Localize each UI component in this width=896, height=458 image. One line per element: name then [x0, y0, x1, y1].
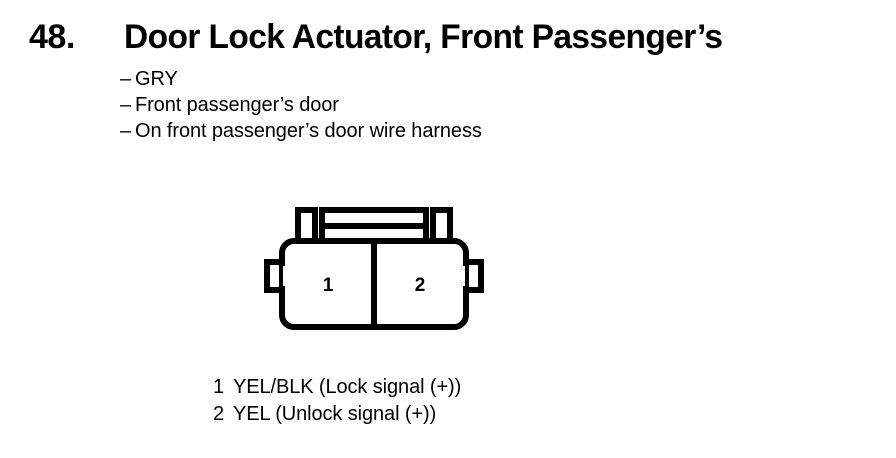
page-title: Door Lock Actuator, Front Passenger’s: [124, 16, 722, 58]
pin-legend-row: 1 YEL/BLK (Lock signal (+)): [213, 374, 713, 401]
pin-legend-number: 2: [213, 401, 233, 428]
connector-notch-seam-mask-left: [283, 266, 289, 286]
page-heading: 48. Door Lock Actuator, Front Passenger’…: [0, 16, 896, 60]
pin-legend-description: YEL/BLK (Lock signal (+)): [233, 374, 461, 401]
list-item: – Front passenger’s door: [120, 92, 820, 118]
connector-cavity-label-1: 1: [323, 275, 334, 296]
dash-bullet-icon: –: [120, 118, 135, 144]
connector-latch-tab-right: [433, 210, 450, 242]
list-item-label: Front passenger’s door: [135, 92, 339, 118]
dash-bullet-icon: –: [120, 92, 135, 118]
pin-legend-description: YEL (Unlock signal (+)): [233, 401, 436, 428]
connector-cavity-label-2: 2: [415, 275, 426, 296]
dash-bullet-icon: –: [120, 66, 135, 92]
list-item-label: GRY: [135, 66, 178, 92]
connector-svg: 1 2: [262, 200, 486, 336]
connector-latch-tab-left: [298, 210, 315, 242]
list-item: – GRY: [120, 66, 820, 92]
heading-item-number: 48.: [29, 16, 75, 58]
specification-list: – GRY – Front passenger’s door – On fron…: [120, 66, 820, 144]
pin-legend-number: 1: [213, 374, 233, 401]
connector-notch-seam-mask-right: [459, 266, 465, 286]
list-item-label: On front passenger’s door wire harness: [135, 118, 482, 144]
connector-diagram: 1 2: [262, 200, 486, 336]
pin-legend-row: 2 YEL (Unlock signal (+)): [213, 401, 713, 428]
pin-legend: 1 YEL/BLK (Lock signal (+)) 2 YEL (Unloc…: [213, 374, 713, 428]
list-item: – On front passenger’s door wire harness: [120, 118, 820, 144]
